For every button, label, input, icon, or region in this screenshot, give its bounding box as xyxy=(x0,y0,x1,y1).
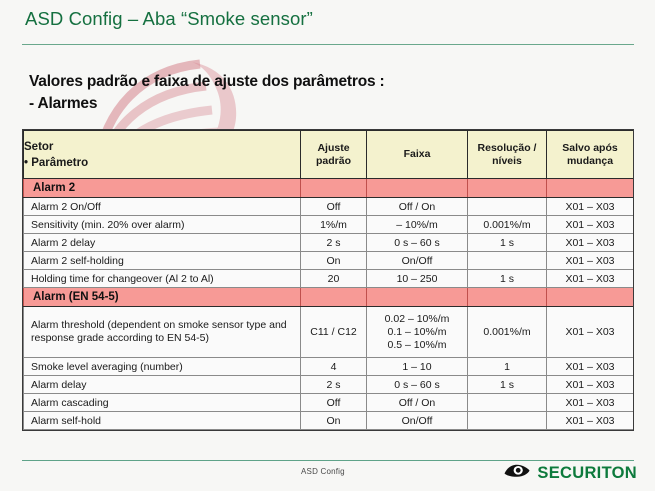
cell-range-line: 0.1 – 10%/m xyxy=(369,326,465,339)
parameter-table: Setor• ParâmetroAjustepadrãoFaixaResoluç… xyxy=(23,130,634,430)
cell-saved: X01 – X03 xyxy=(547,394,634,412)
cell-resolution: 1 s xyxy=(468,234,547,252)
table-row: Smoke level averaging (number)41 – 101X0… xyxy=(24,358,634,376)
cell-range-line: 0.02 – 10%/m xyxy=(369,313,465,326)
cell-parameter: Sensitivity (min. 20% over alarm) xyxy=(24,216,301,234)
section-empty-cell xyxy=(301,179,367,198)
cell-default: 1%/m xyxy=(301,216,367,234)
header-cell-range: Faixa xyxy=(367,131,468,179)
table-row: Alarm cascadingOffOff / OnX01 – X03 xyxy=(24,394,634,412)
cell-default: 20 xyxy=(301,270,367,288)
cell-range: On/Off xyxy=(367,412,468,430)
cell-resolution xyxy=(468,198,547,216)
cell-range: – 10%/m xyxy=(367,216,468,234)
section-empty-cell xyxy=(367,179,468,198)
section-empty-cell xyxy=(547,288,634,307)
header-parameter-line-2: • Parâmetro xyxy=(24,155,300,171)
header-cell-default: Ajustepadrão xyxy=(301,131,367,179)
cell-default: 2 s xyxy=(301,376,367,394)
section-empty-cell xyxy=(468,179,547,198)
cell-default: Off xyxy=(301,198,367,216)
eye-icon xyxy=(504,463,530,483)
cell-saved: X01 – X03 xyxy=(547,412,634,430)
header-parameter-line-1: Setor xyxy=(24,139,300,155)
header-cell-default-line: padrão xyxy=(301,155,366,168)
brand-name: SECURITON xyxy=(537,464,637,483)
footer-divider xyxy=(22,460,634,461)
cell-parameter: Alarm cascading xyxy=(24,394,301,412)
cell-resolution xyxy=(468,394,547,412)
table-section-row: Alarm (EN 54-5) xyxy=(24,288,634,307)
cell-range: 0 s – 60 s xyxy=(367,376,468,394)
cell-parameter: Smoke level averaging (number) xyxy=(24,358,301,376)
parameter-table-container: Setor• ParâmetroAjustepadrãoFaixaResoluç… xyxy=(23,130,633,430)
table-row: Alarm self-holdOnOn/OffX01 – X03 xyxy=(24,412,634,430)
cell-default: 2 s xyxy=(301,234,367,252)
cell-saved: X01 – X03 xyxy=(547,252,634,270)
cell-parameter: Alarm 2 On/Off xyxy=(24,198,301,216)
section-label: Alarm 2 xyxy=(24,179,301,198)
cell-saved: X01 – X03 xyxy=(547,216,634,234)
section-label: Alarm (EN 54-5) xyxy=(24,288,301,307)
table-header-row: Setor• ParâmetroAjustepadrãoFaixaResoluç… xyxy=(24,131,634,179)
cell-saved: X01 – X03 xyxy=(547,358,634,376)
cell-range: 0 s – 60 s xyxy=(367,234,468,252)
cell-range-line: 0.5 – 10%/m xyxy=(369,339,465,352)
table-row: Alarm 2 delay2 s0 s – 60 s1 sX01 – X03 xyxy=(24,234,634,252)
table-row: Holding time for changeover (Al 2 to Al)… xyxy=(24,270,634,288)
page-title: ASD Config – Aba “Smoke sensor” xyxy=(25,8,313,30)
section-empty-cell xyxy=(301,288,367,307)
cell-parameter: Alarm 2 delay xyxy=(24,234,301,252)
brand-logo: SECURITON xyxy=(504,463,637,483)
header-cell-resolution-line: Resolução / xyxy=(468,142,546,155)
cell-resolution: 1 s xyxy=(468,376,547,394)
cell-parameter: Alarm threshold (dependent on smoke sens… xyxy=(24,307,301,358)
section-empty-cell xyxy=(468,288,547,307)
cell-range: On/Off xyxy=(367,252,468,270)
cell-resolution: 1 s xyxy=(468,270,547,288)
cell-range: 10 – 250 xyxy=(367,270,468,288)
header-cell-saved: Salvo apósmudança xyxy=(547,131,634,179)
footer-label: ASD Config xyxy=(301,467,345,476)
table-section-row: Alarm 2 xyxy=(24,179,634,198)
cell-resolution: 0.001%/m xyxy=(468,216,547,234)
cell-default: Off xyxy=(301,394,367,412)
cell-saved: X01 – X03 xyxy=(547,376,634,394)
section-heading: Valores padrão e faixa de ajuste dos par… xyxy=(29,71,384,115)
cell-range: 0.02 – 10%/m0.1 – 10%/m0.5 – 10%/m xyxy=(367,307,468,358)
table-row: Alarm threshold (dependent on smoke sens… xyxy=(24,307,634,358)
table-row: Alarm 2 self-holdingOnOn/OffX01 – X03 xyxy=(24,252,634,270)
table-row: Sensitivity (min. 20% over alarm)1%/m– 1… xyxy=(24,216,634,234)
title-divider xyxy=(22,44,634,45)
cell-parameter: Alarm 2 self-holding xyxy=(24,252,301,270)
header-cell-resolution-line: níveis xyxy=(468,155,546,168)
cell-parameter: Alarm self-hold xyxy=(24,412,301,430)
heading-line-1: Valores padrão e faixa de ajuste dos par… xyxy=(29,71,384,93)
cell-range: 1 – 10 xyxy=(367,358,468,376)
cell-saved: X01 – X03 xyxy=(547,270,634,288)
header-cell-parameter: Setor• Parâmetro xyxy=(24,131,301,179)
cell-resolution: 0.001%/m xyxy=(468,307,547,358)
header-cell-saved-line: Salvo após xyxy=(547,142,633,155)
table-row: Alarm 2 On/OffOffOff / OnX01 – X03 xyxy=(24,198,634,216)
cell-resolution: 1 xyxy=(468,358,547,376)
header-cell-default-line: Ajuste xyxy=(301,142,366,155)
cell-saved: X01 – X03 xyxy=(547,234,634,252)
cell-saved: X01 – X03 xyxy=(547,307,634,358)
cell-resolution xyxy=(468,252,547,270)
table-row: Alarm delay2 s0 s – 60 s1 sX01 – X03 xyxy=(24,376,634,394)
cell-saved: X01 – X03 xyxy=(547,198,634,216)
cell-resolution xyxy=(468,412,547,430)
cell-range: Off / On xyxy=(367,198,468,216)
header-cell-resolution: Resolução /níveis xyxy=(468,131,547,179)
heading-line-2: - Alarmes xyxy=(29,93,384,115)
section-empty-cell xyxy=(547,179,634,198)
cell-default: On xyxy=(301,412,367,430)
cell-parameter: Holding time for changeover (Al 2 to Al) xyxy=(24,270,301,288)
cell-default: C11 / C12 xyxy=(301,307,367,358)
header-cell-saved-line: mudança xyxy=(547,155,633,168)
cell-range: Off / On xyxy=(367,394,468,412)
cell-default: On xyxy=(301,252,367,270)
header-cell-range-line: Faixa xyxy=(367,148,467,161)
section-empty-cell xyxy=(367,288,468,307)
cell-parameter: Alarm delay xyxy=(24,376,301,394)
cell-default: 4 xyxy=(301,358,367,376)
